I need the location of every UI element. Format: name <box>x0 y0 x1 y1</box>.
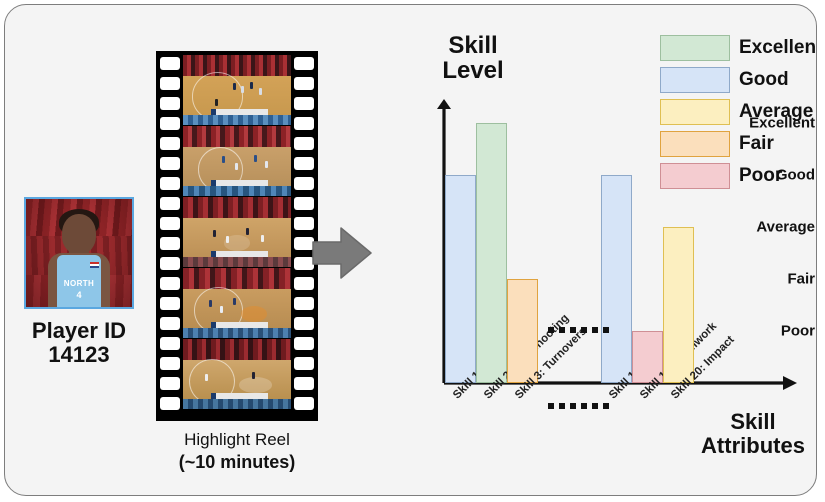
court-player <box>241 86 244 93</box>
filmstrip-perforation <box>160 377 180 390</box>
legend-item[interactable]: Good <box>660 67 817 93</box>
filmstrip-perforation <box>160 277 180 290</box>
frame-sideline <box>183 399 291 410</box>
court-player <box>205 374 208 381</box>
bar <box>601 175 632 383</box>
jersey-team-text: NORTH <box>57 279 101 288</box>
filmstrip-perforation <box>160 257 180 270</box>
court-player <box>222 156 225 163</box>
x-axis-ellipsis <box>548 403 609 409</box>
filmstrip-frames <box>183 55 291 417</box>
plot-ellipsis <box>548 327 609 333</box>
ellipsis-dot <box>581 327 587 333</box>
filmstrip-perforation <box>160 237 180 250</box>
frame-sideline <box>183 115 291 126</box>
court-player <box>215 99 218 106</box>
frame-scorebug <box>211 322 268 328</box>
y-axis-tick-label: Average <box>712 219 815 236</box>
filmstrip-frame <box>183 55 291 125</box>
filmstrip-perforation <box>160 357 180 370</box>
filmstrip-perforation <box>160 397 180 410</box>
court-player <box>235 163 238 170</box>
filmstrip-frame <box>183 268 291 338</box>
legend-swatch <box>660 67 730 93</box>
y-axis-tick-label: Fair <box>712 271 815 288</box>
ellipsis-dot <box>570 327 576 333</box>
court-player <box>261 235 264 242</box>
frame-sideline <box>183 186 291 197</box>
filmstrip-perforation <box>160 97 180 110</box>
filmstrip-perforation <box>160 137 180 150</box>
jersey-number: 4 <box>57 290 101 300</box>
frame-scorebug <box>211 251 268 257</box>
filmstrip-perforation <box>160 217 180 230</box>
filmstrip-frame <box>183 197 291 267</box>
court-player <box>265 161 268 168</box>
frame-scorebug <box>211 393 268 399</box>
filmstrip-perforation <box>160 57 180 70</box>
court-player <box>252 372 255 379</box>
legend-label: Good <box>739 69 789 91</box>
legend-item[interactable]: Excellent <box>660 35 817 61</box>
jersey-flag-patch <box>90 262 99 268</box>
court-player <box>233 298 236 305</box>
ellipsis-dot <box>559 327 565 333</box>
legend-item[interactable]: Fair <box>660 131 817 157</box>
filmstrip-perforation <box>160 197 180 210</box>
frame-crowd <box>183 339 291 360</box>
filmstrip-perforation <box>160 317 180 330</box>
court-player <box>226 236 229 243</box>
filmstrip-perforations-left <box>159 51 181 421</box>
filmstrip-perforation <box>294 397 314 410</box>
filmstrip-perforation <box>160 77 180 90</box>
player-photo: NORTH 4 <box>24 197 134 309</box>
filmstrip-perforation <box>294 137 314 150</box>
ellipsis-dot <box>570 403 576 409</box>
ellipsis-dot <box>592 327 598 333</box>
legend-item[interactable]: Average <box>660 99 817 125</box>
bar <box>507 279 538 383</box>
legend-item[interactable]: Poor <box>660 163 817 189</box>
player-id-value: 14123 <box>19 343 139 367</box>
court-player <box>220 306 223 313</box>
filmstrip-perforation <box>160 117 180 130</box>
legend-label: Poor <box>739 165 782 187</box>
filmstrip-perforation <box>294 197 314 210</box>
court-player <box>254 155 257 162</box>
filmstrip-perforation <box>294 77 314 90</box>
ellipsis-dot <box>581 403 587 409</box>
bar <box>476 123 507 383</box>
court-player <box>233 83 236 90</box>
court-player <box>259 88 262 95</box>
frame-scorebug <box>211 180 268 186</box>
filmstrip <box>156 51 318 421</box>
legend-swatch <box>660 131 730 157</box>
legend-label: Average <box>739 101 813 123</box>
bar <box>663 227 694 383</box>
frame-crowd <box>183 197 291 218</box>
filmstrip-perforation <box>294 297 314 310</box>
legend-swatch <box>660 99 730 125</box>
frame-crowd <box>183 126 291 147</box>
filmstrip-perforation <box>294 177 314 190</box>
figure-panel: NORTH 4 Player ID 14123 <box>4 4 817 496</box>
frame-crowd <box>183 55 291 76</box>
court-player <box>209 300 212 307</box>
ellipsis-dot <box>548 403 554 409</box>
frame-sideline <box>183 257 291 268</box>
legend-swatch <box>660 35 730 61</box>
filmstrip-perforation <box>294 157 314 170</box>
ellipsis-dot <box>592 403 598 409</box>
filmstrip-perforation <box>294 317 314 330</box>
ellipsis-dot <box>548 327 554 333</box>
filmstrip-perforation <box>294 97 314 110</box>
court-player <box>250 82 253 89</box>
reel-caption: Highlight Reel <box>151 430 323 450</box>
bar <box>445 175 476 383</box>
ellipsis-dot <box>603 327 609 333</box>
reel-duration: (~10 minutes) <box>151 452 323 473</box>
legend-label: Excellent <box>739 37 817 59</box>
court-center-logo <box>241 306 267 321</box>
filmstrip-frame <box>183 126 291 196</box>
court-player <box>213 230 216 237</box>
filmstrip-perforation <box>160 177 180 190</box>
player-id-label: Player ID <box>19 319 139 343</box>
filmstrip-perforation <box>160 157 180 170</box>
legend-label: Fair <box>739 133 774 155</box>
filmstrip-perforation <box>294 57 314 70</box>
court-center-logo <box>239 377 271 392</box>
player-block: NORTH 4 Player ID 14123 <box>19 197 139 367</box>
filmstrip-perforation <box>294 377 314 390</box>
filmstrip-perforation <box>294 117 314 130</box>
filmstrip-perforation <box>160 337 180 350</box>
filmstrip-perforation <box>294 337 314 350</box>
legend-swatch <box>660 163 730 189</box>
frame-crowd <box>183 268 291 289</box>
ellipsis-dot <box>603 403 609 409</box>
frame-sideline <box>183 328 291 339</box>
filmstrip-perforation <box>294 357 314 370</box>
legend: ExcellentGoodAverageFairPoor <box>660 35 817 195</box>
filmstrip-perforation <box>160 297 180 310</box>
filmstrip-frame <box>183 339 291 409</box>
frame-scorebug <box>211 109 268 115</box>
ellipsis-dot <box>559 403 565 409</box>
court-player <box>246 228 249 235</box>
highlight-reel-block: Highlight Reel (~10 minutes) <box>151 51 323 473</box>
